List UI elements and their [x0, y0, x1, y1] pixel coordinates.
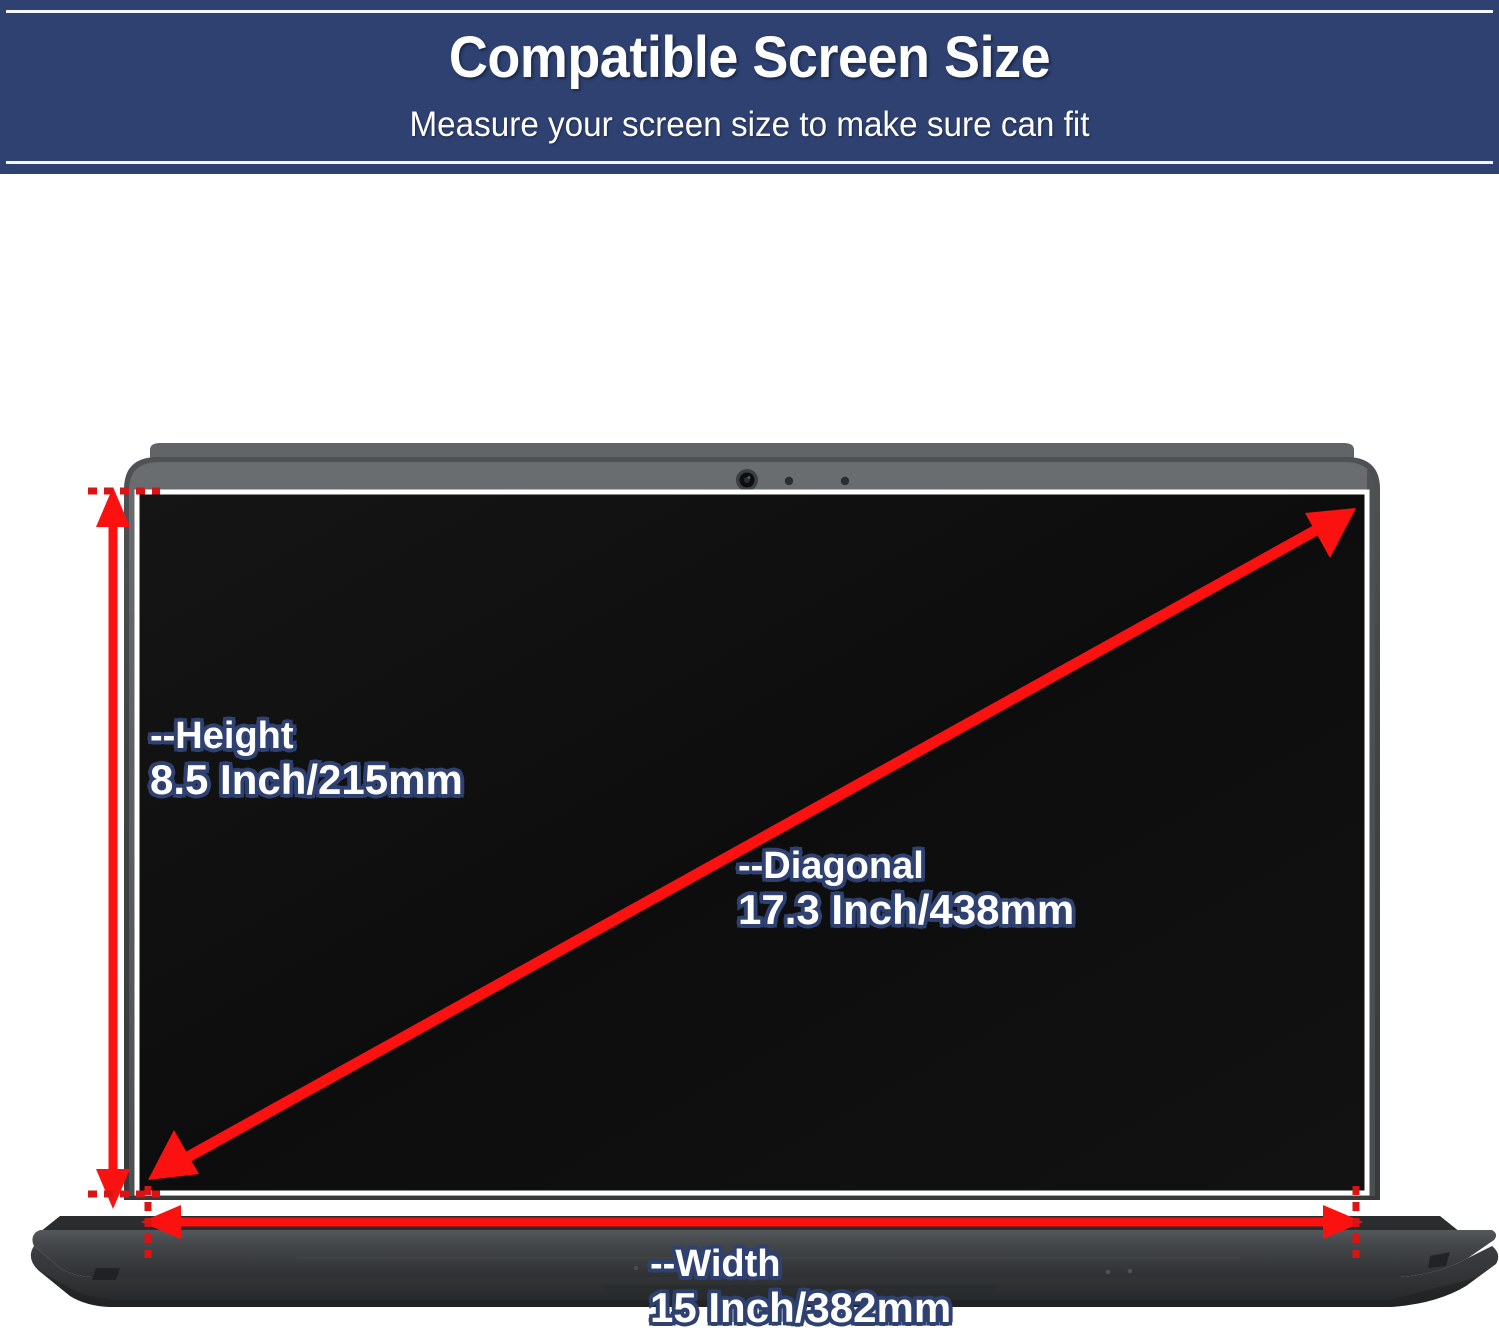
microphone-hole-left — [785, 477, 793, 485]
width-measurement-label: --Width 15 Inch/382mm — [650, 1244, 951, 1330]
header-banner: Compatible Screen Size Measure your scre… — [0, 0, 1499, 174]
laptop-lid — [124, 443, 1380, 1200]
height-measurement-label: --Height 8.5 Inch/215mm — [150, 716, 463, 802]
height-measure-arrow — [96, 487, 130, 1209]
banner-bottom-rule — [6, 161, 1493, 164]
height-label-value: 8.5 Inch/215mm — [150, 757, 463, 802]
screen-panel — [137, 492, 1367, 1193]
width-label-value: 15 Inch/382mm — [650, 1285, 951, 1330]
diagonal-label-value: 17.3 Inch/438mm — [738, 887, 1074, 932]
diagonal-measure-arrow — [148, 508, 1356, 1180]
width-label-name: --Width — [650, 1244, 951, 1285]
banner-top-rule — [6, 10, 1493, 13]
screenshot-root: Compatible Screen Size Measure your scre… — [0, 0, 1499, 1342]
page-subtitle: Measure your screen size to make sure ca… — [37, 105, 1461, 145]
width-measure-arrow — [141, 1205, 1363, 1239]
webcam-module — [736, 469, 758, 491]
diagonal-measurement-label: --Diagonal 17.3 Inch/438mm — [738, 846, 1074, 932]
page-title: Compatible Screen Size — [52, 24, 1446, 91]
height-label-name: --Height — [150, 716, 463, 757]
microphone-hole-right — [841, 477, 849, 485]
laptop-illustration — [0, 0, 1499, 1342]
diagonal-label-name: --Diagonal — [738, 846, 1074, 887]
